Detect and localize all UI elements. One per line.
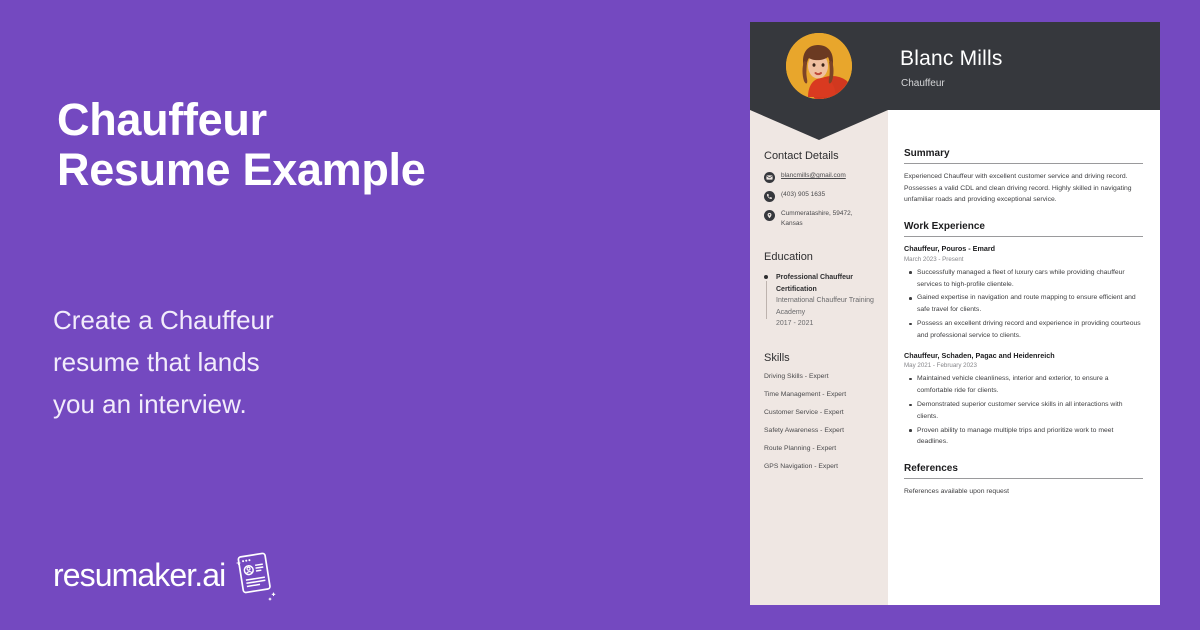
job-bullet: Maintained vehicle cleanliness, interior…	[917, 373, 1143, 397]
summary-text: Experienced Chauffeur with excellent cus…	[904, 171, 1143, 206]
avatar	[786, 33, 852, 99]
resume-document-icon	[230, 549, 278, 601]
job-bullet: Possess an excellent driving record and …	[917, 318, 1143, 342]
contact-email[interactable]: blancmills@gmail.com	[781, 171, 846, 181]
work-experience-heading: Work Experience	[904, 221, 1143, 237]
page-title: Chauffeur Resume Example	[57, 95, 425, 196]
contact-details-heading: Contact Details	[764, 150, 876, 162]
job-title: Chauffeur, Schaden, Pagac and Heidenreic…	[904, 351, 1143, 362]
references-section: References References available upon req…	[904, 463, 1143, 498]
contact-row-phone[interactable]: (403) 905 1635	[764, 190, 876, 202]
education-date: 2017 - 2021	[776, 318, 876, 330]
job-title: Chauffeur, Pouros - Emard	[904, 244, 1143, 255]
skills-section: Skills Driving Skills - Expert Time Mana…	[764, 352, 876, 470]
skill-item: Safety Awareness - Expert	[764, 427, 876, 434]
job-bullet-list: Maintained vehicle cleanliness, interior…	[904, 373, 1143, 448]
resume-preview-card[interactable]: Blanc Mills Chauffeur Contact Details bl…	[750, 22, 1160, 605]
contact-row-address: Cummeratashire, 59472, Kansas	[764, 209, 876, 229]
job-bullet: Demonstrated superior customer service s…	[917, 399, 1143, 423]
resume-person-role: Chauffeur	[901, 78, 945, 89]
envelope-icon	[764, 172, 775, 183]
work-experience-section: Work Experience Chauffeur, Pouros - Emar…	[904, 221, 1143, 448]
contact-address: Cummeratashire, 59472, Kansas	[781, 209, 876, 229]
skill-item: Time Management - Expert	[764, 391, 876, 398]
education-title: Professional Chauffeur Certification	[776, 272, 876, 295]
resume-person-name: Blanc Mills	[900, 47, 1003, 71]
logo-wordmark: resumaker.ai	[53, 557, 225, 594]
education-heading: Education	[764, 251, 876, 263]
contact-row-email[interactable]: blancmills@gmail.com	[764, 171, 876, 183]
job-bullet: Successfully managed a fleet of luxury c…	[917, 267, 1143, 291]
summary-heading: Summary	[904, 148, 1143, 164]
promo-subtitle: Create a Chauffeur resume that lands you…	[53, 299, 274, 425]
job-entry: Chauffeur, Schaden, Pagac and Heidenreic…	[904, 351, 1143, 449]
education-section: Education Professional Chauffeur Certifi…	[764, 251, 876, 330]
education-organization: International Chauffeur Training Academy	[776, 295, 876, 318]
job-bullet: Proven ability to manage multiple trips …	[917, 425, 1143, 449]
job-entry: Chauffeur, Pouros - Emard March 2023 - P…	[904, 244, 1143, 342]
skill-item: GPS Navigation - Expert	[764, 463, 876, 470]
location-pin-icon	[764, 210, 775, 221]
summary-section: Summary Experienced Chauffeur with excel…	[904, 148, 1143, 206]
contact-phone: (403) 905 1635	[781, 190, 825, 200]
skill-item: Customer Service - Expert	[764, 409, 876, 416]
job-bullet: Gained expertise in navigation and route…	[917, 292, 1143, 316]
skills-heading: Skills	[764, 352, 876, 364]
references-heading: References	[904, 463, 1143, 479]
education-item: Professional Chauffeur Certification Int…	[764, 272, 876, 330]
resumaker-logo[interactable]: resumaker.ai	[53, 549, 278, 601]
job-bullet-list: Successfully managed a fleet of luxury c…	[904, 267, 1143, 342]
timeline-dot-icon	[764, 275, 768, 279]
job-date: March 2023 - Present	[904, 255, 1143, 265]
promo-panel: Chauffeur Resume Example Create a Chauff…	[0, 0, 750, 630]
skill-item: Driving Skills - Expert	[764, 373, 876, 380]
job-date: May 2021 - February 2023	[904, 361, 1143, 371]
phone-icon	[764, 191, 775, 202]
skill-item: Route Planning - Expert	[764, 445, 876, 452]
references-text: References available upon request	[904, 486, 1143, 498]
timeline-line	[766, 281, 767, 319]
